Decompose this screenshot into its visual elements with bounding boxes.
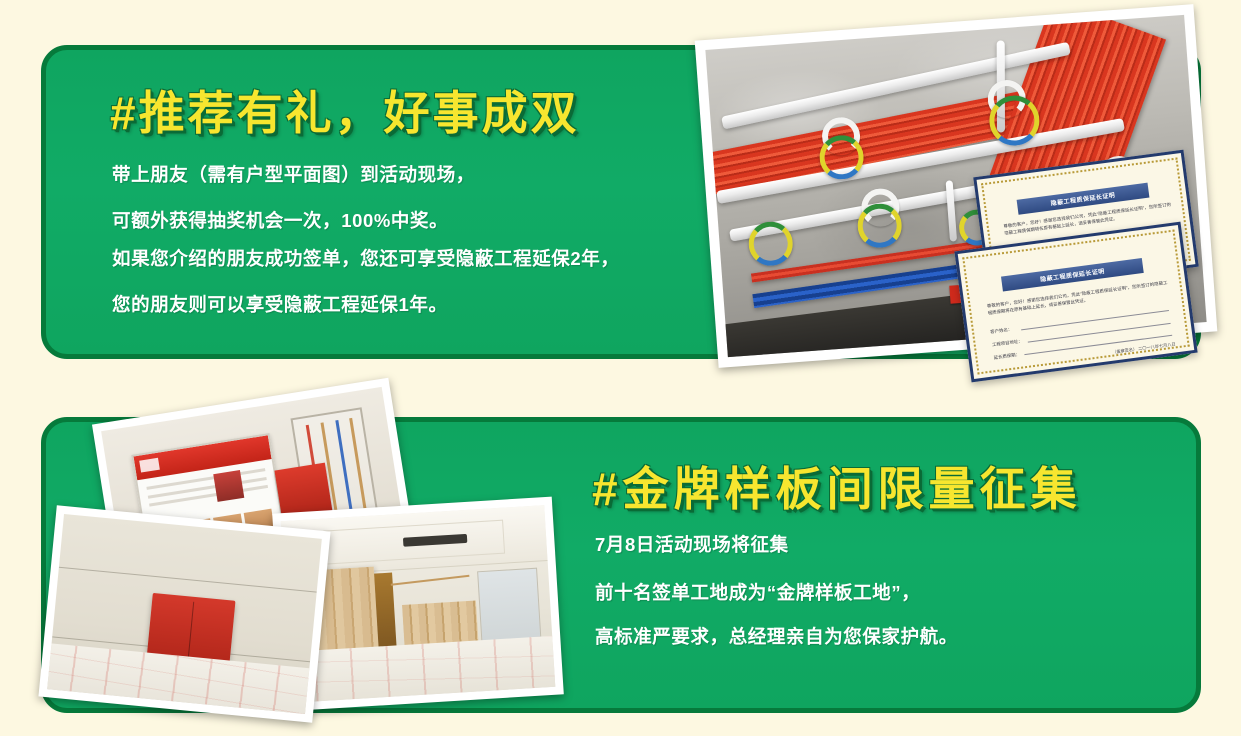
worksite-cabinet-photo (38, 505, 330, 722)
referral-line-2: 可额外获得抽奖机会一次，100%中奖。 (112, 212, 448, 231)
section-referral-heading: #推荐有礼，好事成双 (110, 90, 580, 136)
worksite-cabinet-scene (47, 514, 322, 714)
board-portrait-photo (213, 470, 244, 502)
gold-model-line-3: 高标准严要求，总经理亲自为您保家护航。 (595, 628, 958, 647)
referral-line-1: 带上朋友（需有户型平面图）到活动现场， (112, 166, 475, 185)
referral-line-3: 如果您介绍的朋友成功签单，您还可享受隐蔽工程延保2年， (112, 250, 620, 269)
gold-model-line-1: 7月8日活动现场将征集 (595, 536, 789, 555)
wall-seam-line (59, 567, 317, 593)
poster-canvas: #推荐有礼，好事成双 带上朋友（需有户型平面图）到活动现场， 可额外获得抽奖机会… (0, 0, 1241, 736)
referral-line-4: 您的朋友则可以享受隐蔽工程延保1年。 (112, 296, 448, 315)
gold-model-line-2: 前十名签单工地成为“金牌样板工地”， (595, 584, 920, 603)
support-rod-icon (390, 575, 469, 586)
section-gold-model-heading: #金牌样板间限量征集 (592, 466, 1082, 512)
